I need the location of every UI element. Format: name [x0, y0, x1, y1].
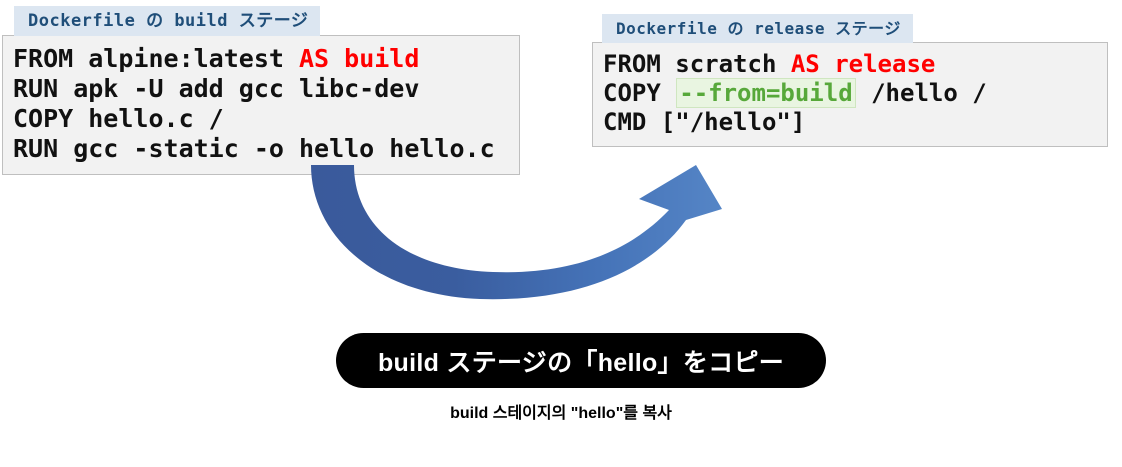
code-text: COPY hello.c /	[13, 104, 224, 133]
code-line: RUN apk -U add gcc libc-dev	[13, 74, 509, 104]
code-text: /hello /	[857, 79, 987, 107]
copy-callout-label: build ステージの「hello」をコピー	[378, 343, 784, 379]
copy-arrow-icon	[280, 165, 750, 350]
code-text: CMD ["/hello"]	[603, 108, 805, 136]
code-text: RUN apk -U add gcc libc-dev	[13, 74, 419, 103]
release-stage-code-box: FROM scratch AS releaseCOPY --from=build…	[592, 42, 1108, 147]
build-stage-header: Dockerfile の build ステージ	[14, 6, 320, 36]
copy-callout-caption: build 스테이지의 "hello"를 복사	[0, 399, 1122, 423]
stage-name-keyword: AS build	[299, 44, 419, 73]
code-text: FROM alpine:latest	[13, 44, 299, 73]
code-line: RUN gcc -static -o hello hello.c	[13, 134, 509, 164]
code-text: COPY	[603, 79, 675, 107]
release-stage-header: Dockerfile の release ステージ	[602, 14, 913, 43]
code-line: FROM scratch AS release	[603, 50, 1097, 79]
code-line: COPY --from=build /hello /	[603, 79, 1097, 108]
copy-callout-pill: build ステージの「hello」をコピー	[336, 333, 826, 388]
stage-name-keyword: AS release	[791, 50, 936, 78]
code-line: COPY hello.c /	[13, 104, 509, 134]
code-line: FROM alpine:latest AS build	[13, 44, 509, 74]
build-stage-code-box: FROM alpine:latest AS buildRUN apk -U ad…	[2, 35, 520, 175]
code-text: FROM scratch	[603, 50, 791, 78]
code-line: CMD ["/hello"]	[603, 108, 1097, 137]
copy-arrow-path	[311, 165, 722, 299]
release-stage-panel: Dockerfile の release ステージ FROM scratch A…	[592, 14, 1108, 147]
from-flag-keyword: --from=build	[676, 78, 855, 108]
build-stage-panel: Dockerfile の build ステージ FROM alpine:late…	[2, 6, 520, 175]
code-text: RUN gcc -static -o hello hello.c	[13, 134, 495, 163]
